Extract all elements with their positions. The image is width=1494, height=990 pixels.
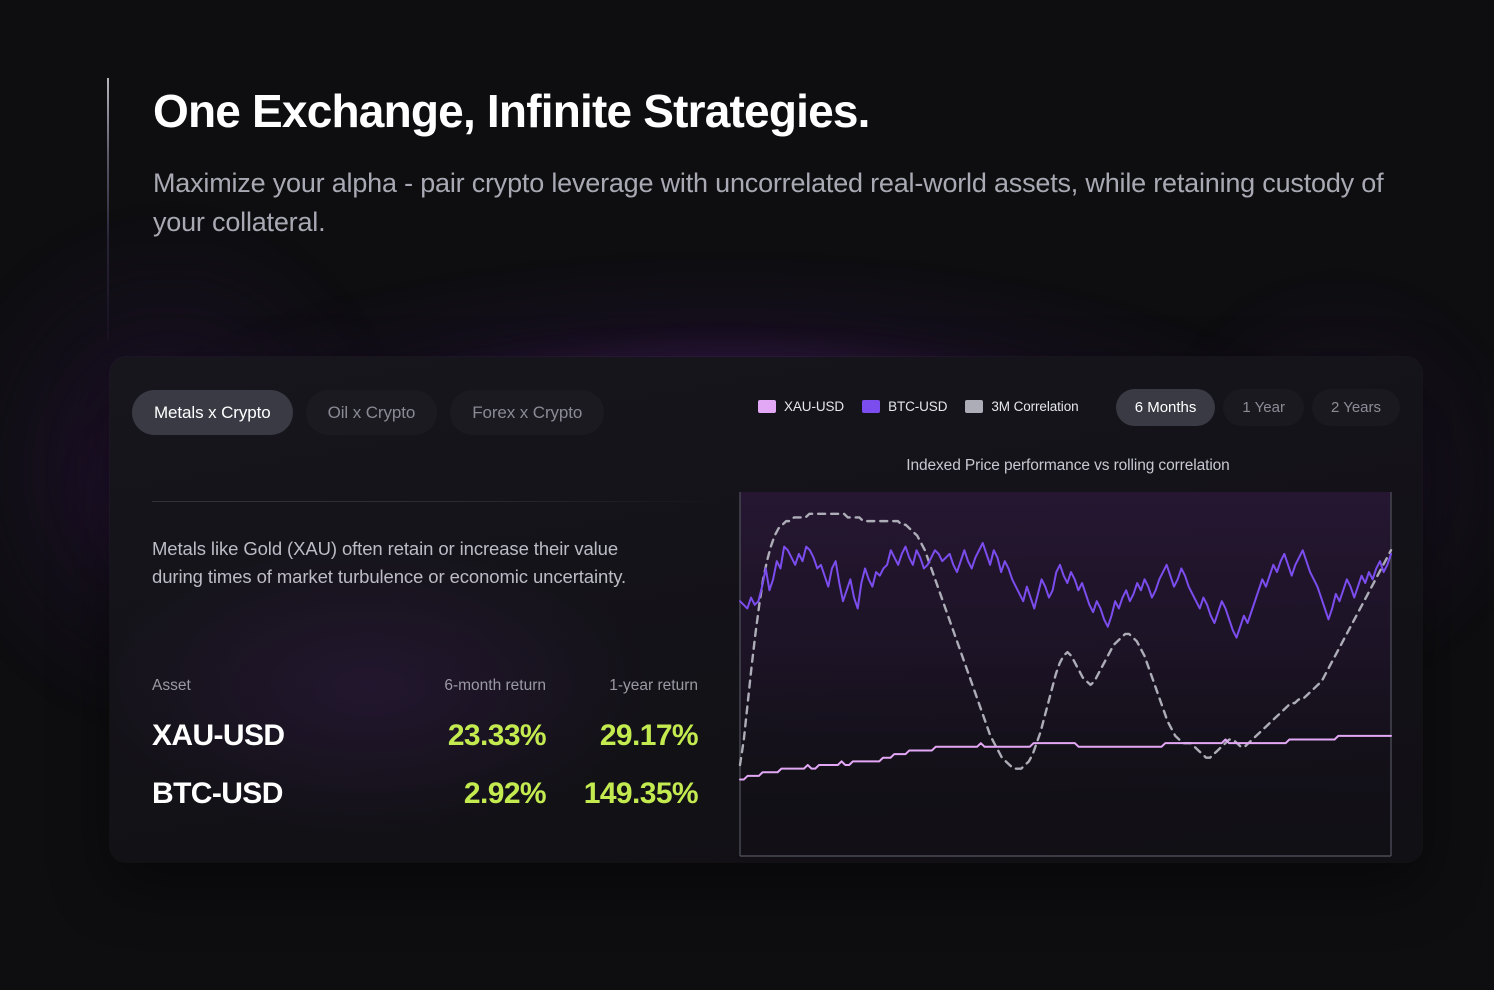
tab-oil-x-crypto[interactable]: Oil x Crypto bbox=[306, 390, 438, 435]
legend-label: XAU-USD bbox=[784, 399, 844, 414]
legend-swatch-icon bbox=[862, 400, 880, 413]
table-row: XAU-USD 23.33% 29.17% bbox=[152, 719, 704, 753]
tab-metals-x-crypto[interactable]: Metals x Crypto bbox=[132, 390, 293, 435]
asset-description: Metals like Gold (XAU) often retain or i… bbox=[152, 535, 672, 591]
time-range-selector: 6 Months 1 Year 2 Years bbox=[1116, 389, 1400, 426]
six-month-return-value: 23.33% bbox=[376, 719, 546, 753]
comparison-card: Metals x Crypto Oil x Crypto Forex x Cry… bbox=[110, 357, 1422, 862]
hero-accent-bar bbox=[107, 78, 109, 340]
one-year-return-value: 149.35% bbox=[546, 777, 698, 811]
range-2-years[interactable]: 2 Years bbox=[1312, 389, 1400, 426]
tab-forex-x-crypto[interactable]: Forex x Crypto bbox=[450, 390, 604, 435]
asset-name: BTC-USD bbox=[152, 777, 376, 811]
legend-label: 3M Correlation bbox=[991, 399, 1078, 414]
landing-page: One Exchange, Infinite Strategies. Maxim… bbox=[0, 0, 1494, 990]
legend-swatch-icon bbox=[758, 400, 776, 413]
legend-item-xau-usd: XAU-USD bbox=[758, 399, 844, 414]
table-header-row: Asset 6-month return 1-year return bbox=[152, 677, 704, 695]
returns-table: Asset 6-month return 1-year return XAU-U… bbox=[152, 677, 704, 811]
legend-label: BTC-USD bbox=[888, 399, 947, 414]
asset-pair-tabs: Metals x Crypto Oil x Crypto Forex x Cry… bbox=[132, 390, 604, 435]
page-title: One Exchange, Infinite Strategies. bbox=[153, 86, 1443, 138]
section-divider bbox=[152, 501, 704, 502]
column-header-asset: Asset bbox=[152, 677, 376, 695]
one-year-return-value: 29.17% bbox=[546, 719, 698, 753]
table-body: XAU-USD 23.33% 29.17% BTC-USD 2.92% 149.… bbox=[152, 719, 704, 811]
hero-section: One Exchange, Infinite Strategies. Maxim… bbox=[153, 86, 1443, 242]
range-6-months[interactable]: 6 Months bbox=[1116, 389, 1216, 426]
six-month-return-value: 2.92% bbox=[376, 777, 546, 811]
legend-swatch-icon bbox=[965, 400, 983, 413]
column-header-one-year-return: 1-year return bbox=[546, 677, 698, 695]
column-header-six-month-return: 6-month return bbox=[376, 677, 546, 695]
chart-title: Indexed Price performance vs rolling cor… bbox=[738, 457, 1398, 475]
legend-item-btc-usd: BTC-USD bbox=[862, 399, 947, 414]
legend-item-3m-correlation: 3M Correlation bbox=[965, 399, 1078, 414]
hero-subtitle: Maximize your alpha - pair crypto levera… bbox=[153, 164, 1433, 242]
performance-chart bbox=[738, 491, 1393, 862]
table-row: BTC-USD 2.92% 149.35% bbox=[152, 777, 704, 811]
range-1-year[interactable]: 1 Year bbox=[1223, 389, 1304, 426]
asset-name: XAU-USD bbox=[152, 719, 376, 753]
chart-svg bbox=[738, 491, 1393, 862]
plot-background bbox=[740, 492, 1391, 856]
chart-legend: XAU-USD BTC-USD 3M Correlation bbox=[758, 399, 1079, 414]
